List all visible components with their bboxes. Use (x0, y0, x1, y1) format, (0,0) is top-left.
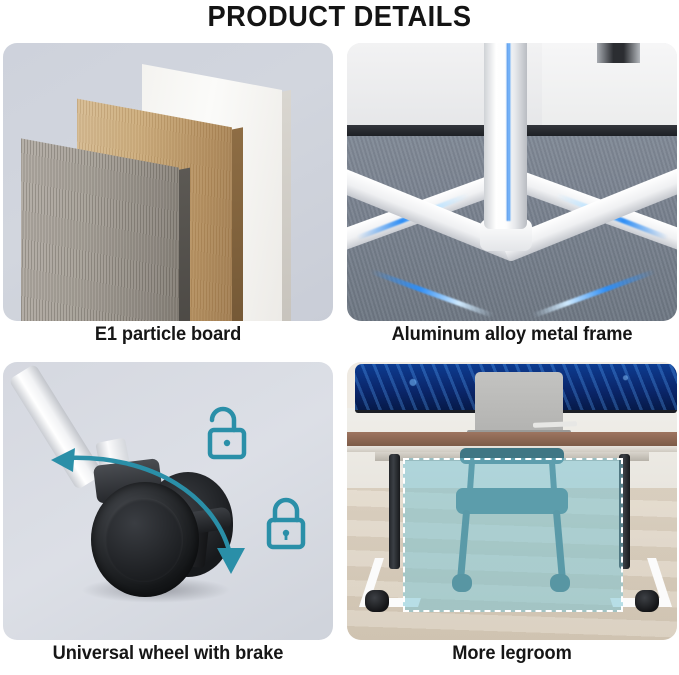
curved-double-arrow-icon (65, 458, 231, 558)
detail-card-more-legroom[interactable]: More legroom (347, 362, 677, 675)
photo-e1-particle-board (3, 43, 333, 321)
page-title: PRODUCT DETAILS (20, 1, 658, 34)
arrow-head-unlock (51, 448, 75, 472)
board-oak-edge (232, 127, 243, 321)
detail-card-aluminum-alloy-metal-frame[interactable]: Aluminum alloy metal frame (347, 43, 677, 356)
desk-caster-left (365, 590, 389, 612)
desk-caster-right (635, 590, 659, 612)
unlock-icon (210, 409, 244, 457)
details-grid: E1 particle board Al (0, 43, 679, 673)
wall-vent (597, 43, 640, 63)
caption-more-legroom: More legroom (354, 643, 671, 665)
desk-leg-left (389, 454, 400, 569)
blue-glow-column (506, 43, 511, 221)
board-grey (21, 138, 179, 321)
board-grey-face (21, 138, 179, 321)
photo-more-legroom (347, 362, 677, 640)
arrow-head-lock (217, 548, 245, 574)
photo-universal-wheel-with-brake (3, 362, 333, 640)
product-details-page: PRODUCT DETAILS E1 particle board (0, 0, 679, 673)
caption-universal-wheel-with-brake: Universal wheel with brake (10, 643, 327, 665)
photo-aluminum-alloy-metal-frame (347, 43, 677, 321)
lock-icon (269, 500, 303, 547)
caption-e1-particle-board: E1 particle board (10, 324, 327, 346)
detail-card-e1-particle-board[interactable]: E1 particle board (3, 43, 333, 356)
board-white-edge (282, 90, 291, 321)
board-grey-edge (179, 168, 190, 321)
detail-card-universal-wheel-with-brake[interactable]: Universal wheel with brake (3, 362, 333, 675)
desk-top (347, 432, 677, 446)
lock-indicator-group (3, 362, 333, 640)
caption-aluminum-alloy-metal-frame: Aluminum alloy metal frame (354, 324, 671, 346)
legroom-highlight-area (403, 458, 623, 612)
